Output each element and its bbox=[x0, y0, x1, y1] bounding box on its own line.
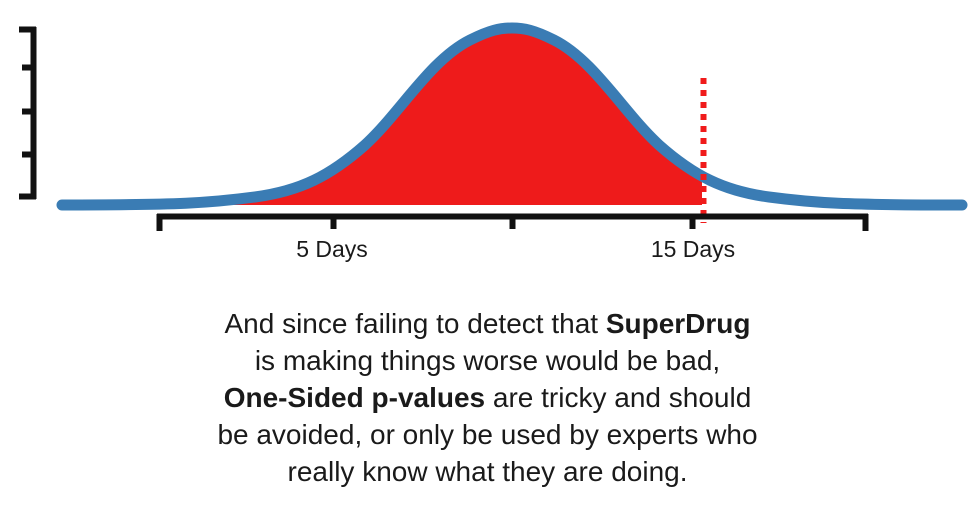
caption-line-2: is making things worse would be bad, bbox=[0, 342, 975, 379]
caption-superdrug-bold: SuperDrug bbox=[606, 308, 751, 339]
x-axis-label-5-days: 5 Days bbox=[272, 236, 392, 263]
distribution-chart: 5 Days 15 Days bbox=[0, 0, 975, 285]
caption-one-sided-bold: One-Sided p-values bbox=[224, 382, 485, 413]
caption-line-3: One-Sided p-values are tricky and should bbox=[0, 379, 975, 416]
caption-line-4: be avoided, or only be used by experts w… bbox=[0, 416, 975, 453]
caption-line-3-text: are tricky and should bbox=[485, 382, 751, 413]
chart-canvas bbox=[0, 0, 975, 285]
caption-text: And since failing to detect that SuperDr… bbox=[0, 305, 975, 490]
shaded-area-under-curve bbox=[62, 28, 962, 205]
figure-page: 5 Days 15 Days And since failing to dete… bbox=[0, 0, 975, 519]
caption-line-1-text: And since failing to detect that bbox=[224, 308, 605, 339]
caption-line-5: really know what they are doing. bbox=[0, 453, 975, 490]
x-axis-label-15-days: 15 Days bbox=[628, 236, 758, 263]
caption-line-1: And since failing to detect that SuperDr… bbox=[0, 305, 975, 342]
